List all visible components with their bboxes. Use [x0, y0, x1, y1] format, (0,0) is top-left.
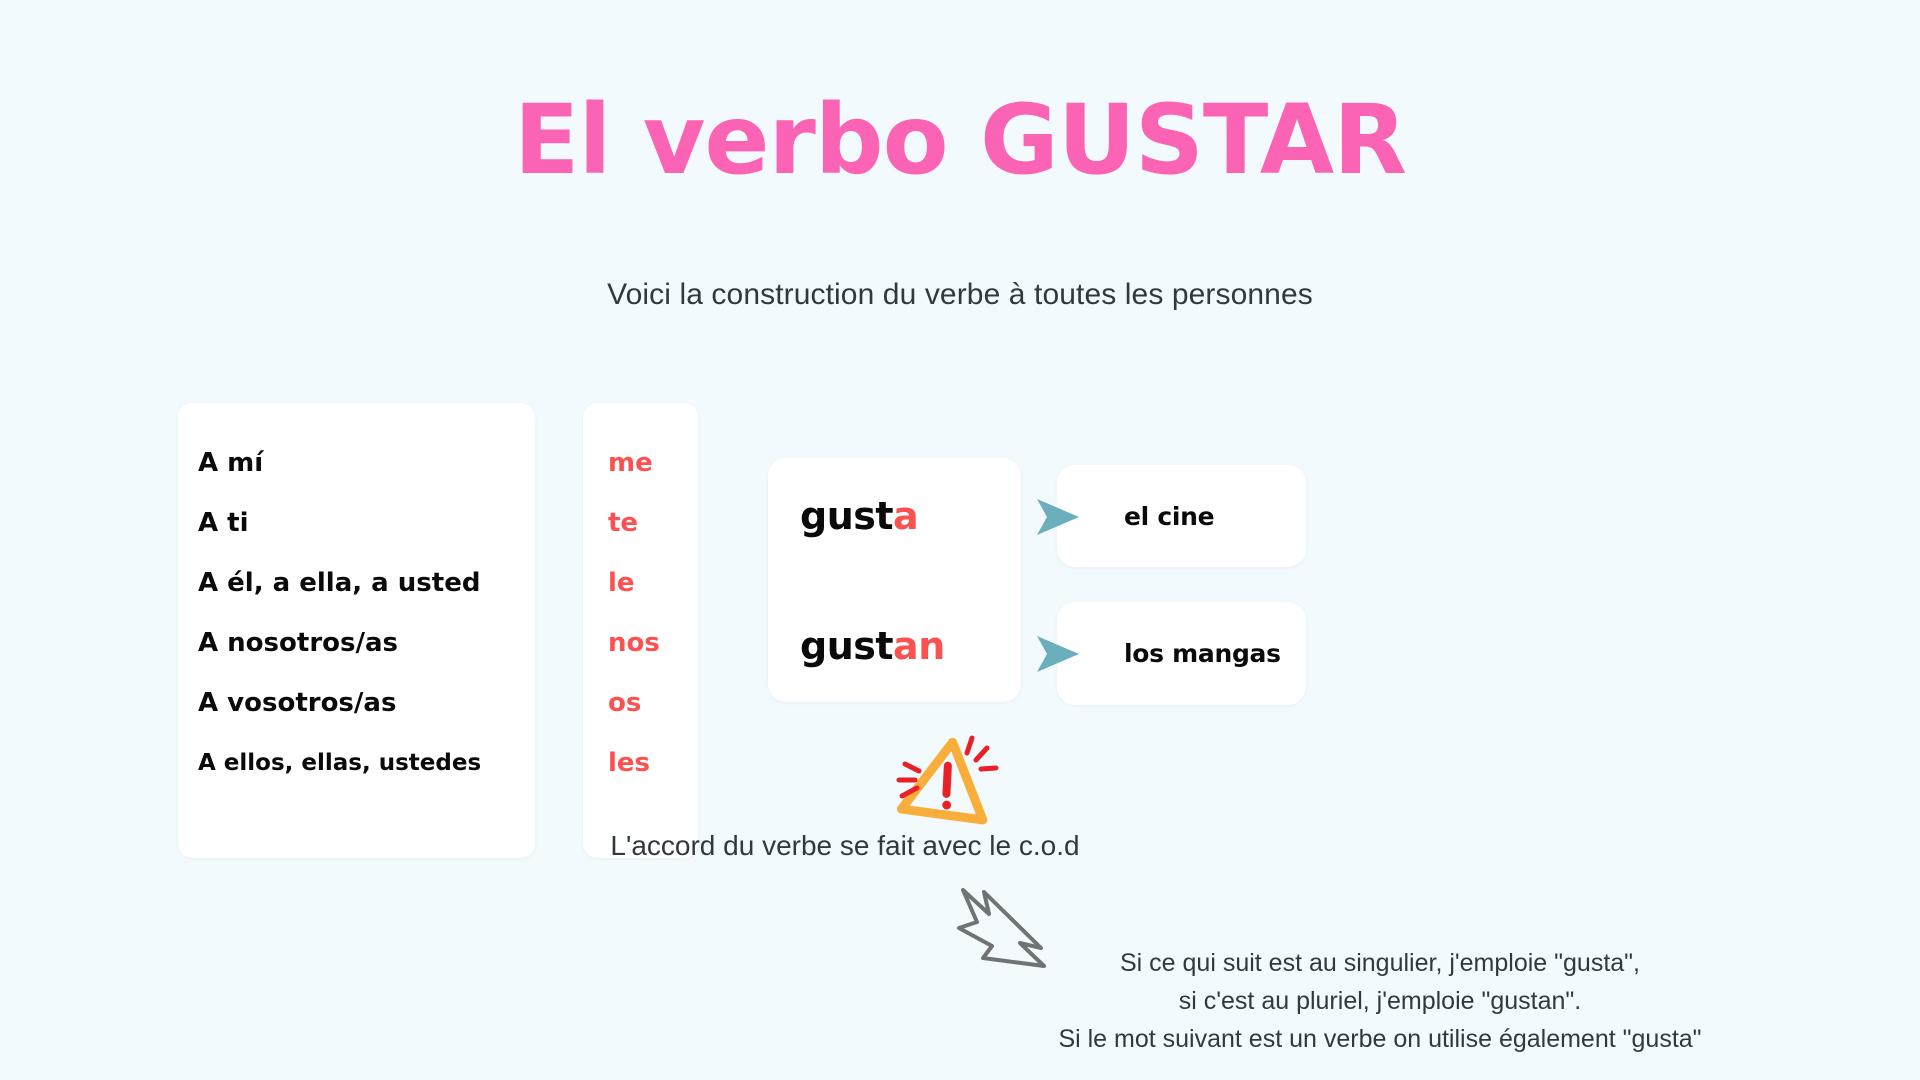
- verb-ending: a: [893, 494, 918, 538]
- verb-ending: an: [893, 624, 945, 668]
- list-item: A ti: [198, 493, 525, 553]
- list-item: A él, a ella, a usted: [198, 553, 525, 613]
- list-item: les: [608, 733, 660, 793]
- slide-canvas: El verbo GUSTAR Voici la construction du…: [0, 0, 1920, 1080]
- note-line: Si le mot suivant est un verbe on utilis…: [1000, 1020, 1760, 1058]
- list-item: A ellos, ellas, ustedes: [198, 733, 525, 793]
- list-item: te: [608, 493, 660, 553]
- pronouns-list: me te le nos os les: [608, 433, 660, 793]
- list-item: le: [608, 553, 660, 613]
- arrow-right-icon: [1035, 497, 1081, 537]
- persons-list: A mí A ti A él, a ella, a usted A nosotr…: [198, 433, 525, 793]
- arrow-right-icon: [1035, 634, 1081, 674]
- pronouns-card: me te le nos os les: [583, 403, 698, 858]
- object-pill-plural: los mangas: [1057, 602, 1306, 705]
- object-pill-singular: el cine: [1057, 465, 1306, 567]
- list-item: A vosotros/as: [198, 673, 525, 733]
- list-item: os: [608, 673, 660, 733]
- object-label: el cine: [1124, 502, 1214, 531]
- list-item: me: [608, 433, 660, 493]
- warning-triangle-icon: [888, 722, 1008, 834]
- verb-form-plural: gustan: [800, 624, 945, 668]
- note-block: Si ce qui suit est au singulier, j'emplo…: [1000, 944, 1760, 1058]
- verb-stem: gust: [800, 624, 893, 668]
- verb-form-singular: gusta: [800, 494, 918, 538]
- note-line: si c'est au pluriel, j'emploie "gustan".: [1000, 982, 1760, 1020]
- page-subtitle: Voici la construction du verbe à toutes …: [0, 278, 1920, 312]
- verb-forms-card: gusta gustan: [768, 458, 1021, 702]
- accord-text: L'accord du verbe se fait avec le c.o.d: [610, 830, 1079, 862]
- persons-card: A mí A ti A él, a ella, a usted A nosotr…: [178, 403, 535, 858]
- verb-stem: gust: [800, 494, 893, 538]
- object-label: los mangas: [1124, 639, 1281, 668]
- accord-text-wrapper: L'accord du verbe se fait avec le c.o.d: [0, 830, 1920, 862]
- list-item: nos: [608, 613, 660, 673]
- note-line: Si ce qui suit est au singulier, j'emplo…: [1000, 944, 1760, 982]
- page-title: El verbo GUSTAR: [0, 88, 1920, 194]
- list-item: A mí: [198, 433, 525, 493]
- list-item: A nosotros/as: [198, 613, 525, 673]
